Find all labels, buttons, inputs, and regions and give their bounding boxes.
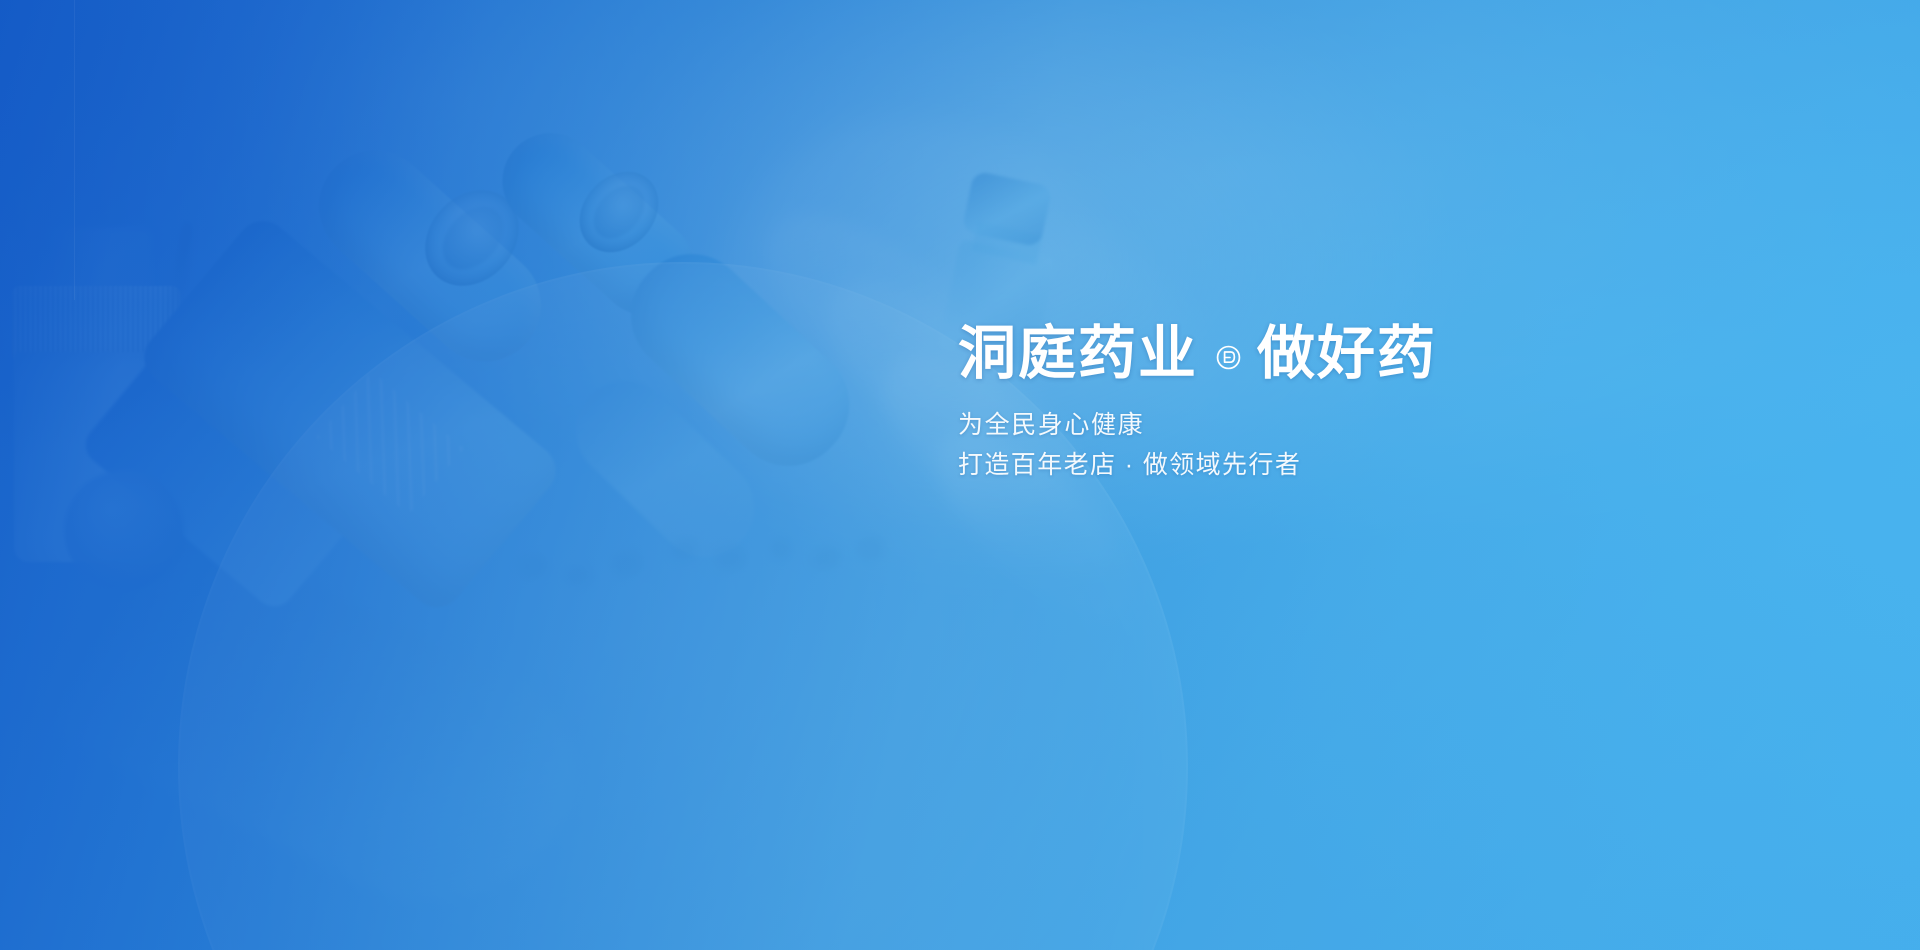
hero-subtitle-line-1: 为全民身心健康 [958, 405, 1718, 446]
hero-subtitle-line-2: 打造百年老店 · 做领域先行者 [958, 445, 1718, 486]
hero-banner: 洞庭药业 做好药 为全民身心健康 打造百年老店 · 做领域先行者 [0, 0, 1920, 950]
hero-title-left: 洞庭药业 [958, 322, 1198, 387]
hero-subtitle: 为全民身心健康 打造百年老店 · 做领域先行者 [958, 405, 1718, 486]
photo-seam-line [74, 0, 75, 300]
hero-title-right: 做好药 [1257, 322, 1437, 387]
hero-copy-block: 洞庭药业 做好药 为全民身心健康 打造百年老店 · 做领域先行者 [958, 322, 1718, 486]
dongting-logo-icon [1216, 345, 1241, 370]
hero-title-row: 洞庭药业 做好药 [958, 322, 1718, 387]
